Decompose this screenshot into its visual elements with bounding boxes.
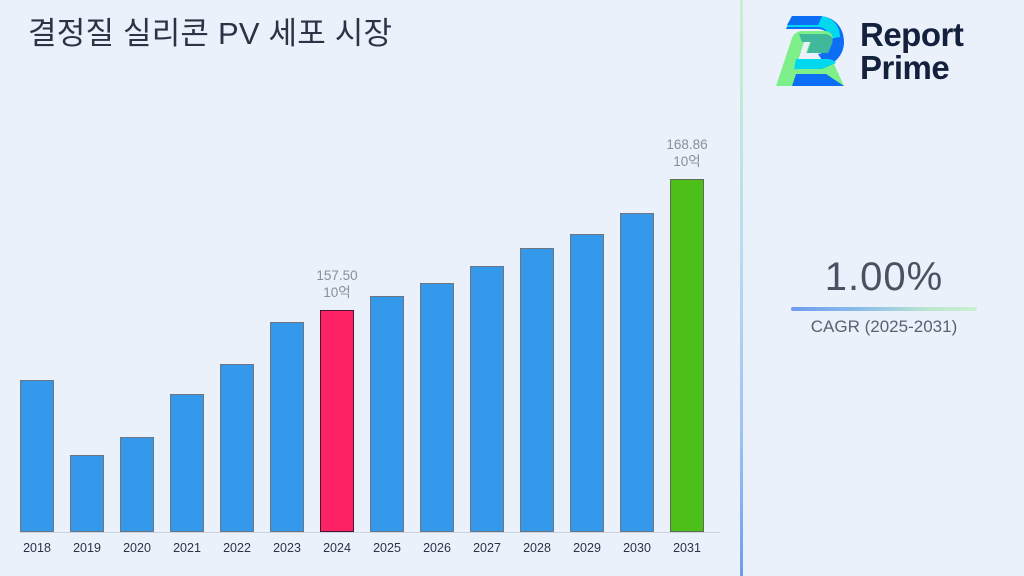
x-axis-label-2028: 2028 [512,541,562,555]
cagr-caption: CAGR (2025-2031) [744,317,1024,337]
x-axis-label-2020: 2020 [112,541,162,555]
bar-2020[interactable] [120,437,154,532]
bar-2021[interactable] [170,394,204,532]
brand-name: Report Prime [860,18,963,84]
brand-logo: Report Prime [774,12,963,90]
x-axis-label-2023: 2023 [262,541,312,555]
chart-baseline [20,532,720,533]
x-axis-label-2029: 2029 [562,541,612,555]
bar-2023[interactable] [270,322,304,532]
bar-2031[interactable] [670,179,704,532]
panel-divider [740,0,743,576]
cagr-block: 1.00% CAGR (2025-2031) [744,255,1024,337]
bar-2026[interactable] [420,283,454,532]
data-label-2031: 168.86 10억 [642,136,732,170]
cagr-divider-rule [791,307,977,311]
x-axis-label-2026: 2026 [412,541,462,555]
bar-2027[interactable] [470,266,504,532]
data-label-2024: 157.50 10억 [292,267,382,301]
side-panel: Report Prime 1.00% CAGR (2025-2031) [744,0,1024,576]
cagr-value: 1.00% [744,255,1024,300]
bar-2022[interactable] [220,364,254,532]
page-root: 결정질 실리콘 PV 세포 시장 20182019202020212022202… [0,0,1024,576]
x-axis-label-2024: 2024 [312,541,362,555]
x-axis-label-2022: 2022 [212,541,262,555]
brand-name-line2: Prime [860,49,949,86]
brand-name-line1: Report [860,16,963,53]
x-axis-label-2021: 2021 [162,541,212,555]
report-prime-r-logo-icon [774,12,846,90]
x-axis-label-2027: 2027 [462,541,512,555]
bar-2024[interactable] [320,310,354,532]
bar-2019[interactable] [70,455,104,532]
bar-2030[interactable] [620,213,654,532]
bar-2029[interactable] [570,234,604,532]
x-axis-label-2019: 2019 [62,541,112,555]
bar-chart-plot: 2018201920202021202220232024157.50 10억20… [0,0,741,576]
bar-2025[interactable] [370,296,404,532]
bar-2028[interactable] [520,248,554,532]
chart-area: 2018201920202021202220232024157.50 10억20… [0,0,741,576]
x-axis-label-2018: 2018 [12,541,62,555]
bar-2018[interactable] [20,380,54,532]
x-axis-label-2030: 2030 [612,541,662,555]
x-axis-label-2031: 2031 [662,541,712,555]
x-axis-label-2025: 2025 [362,541,412,555]
